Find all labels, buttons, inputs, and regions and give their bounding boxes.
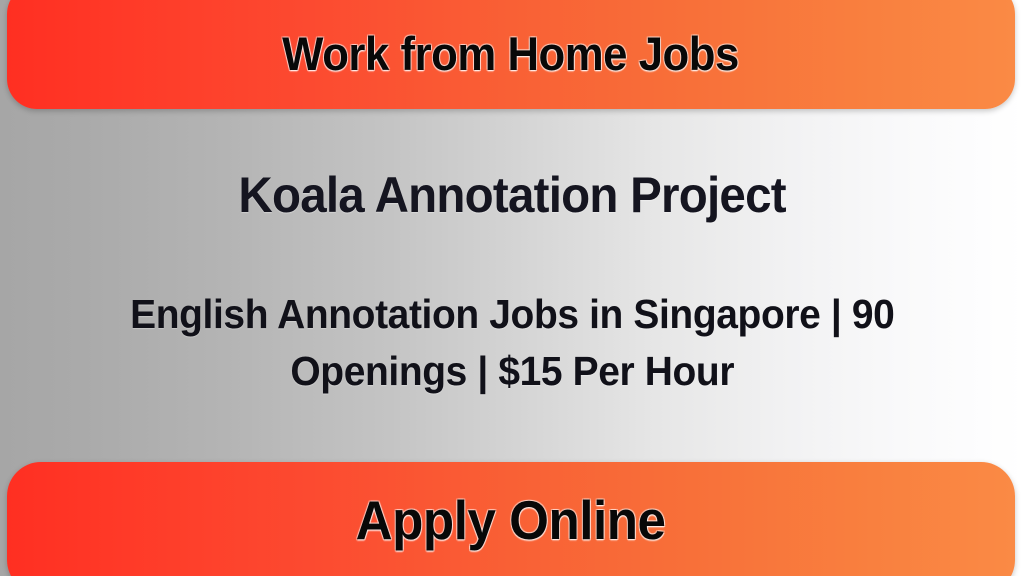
job-poster: Work from Home Jobs Koala Annotation Pro…: [0, 0, 1024, 576]
poster-content: Koala Annotation Project English Annotat…: [0, 108, 1024, 462]
top-banner-title: Work from Home Jobs: [283, 30, 740, 77]
apply-online-button[interactable]: Apply Online: [7, 462, 1015, 576]
job-description-line-2: Openings | $15 Per Hour: [130, 343, 894, 400]
apply-online-button-label: Apply Online: [356, 493, 666, 548]
job-description-line-1: English Annotation Jobs in Singapore | 9…: [130, 286, 894, 343]
page-title: Koala Annotation Project: [238, 170, 785, 220]
job-description: English Annotation Jobs in Singapore | 9…: [130, 286, 894, 399]
top-banner: Work from Home Jobs: [7, 0, 1015, 109]
